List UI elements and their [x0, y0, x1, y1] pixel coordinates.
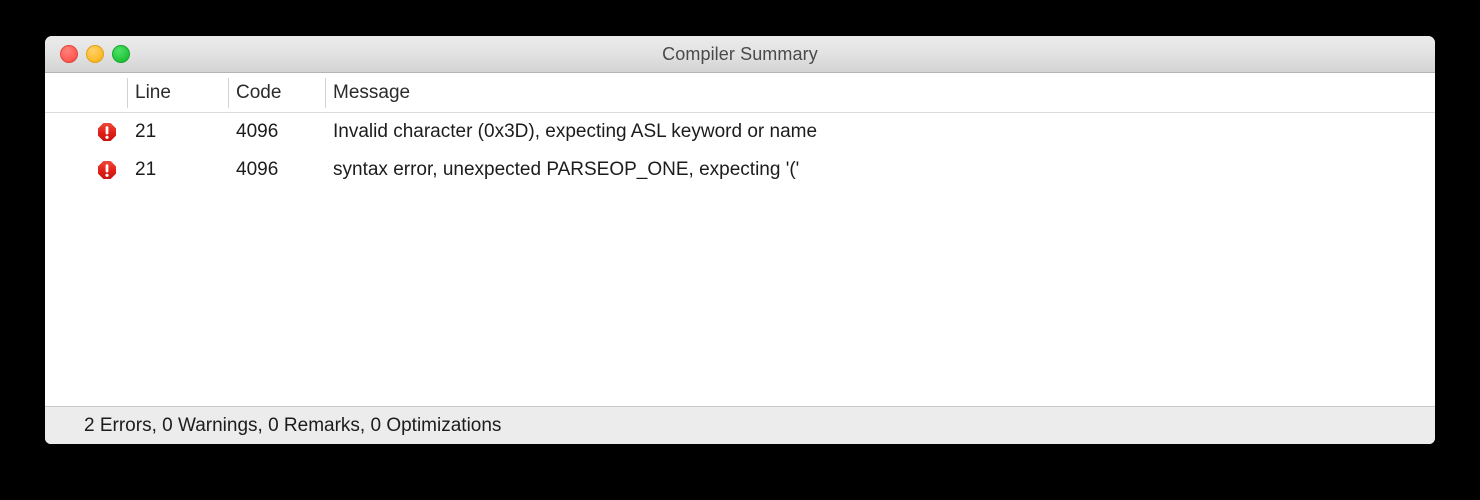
column-divider-3[interactable] — [325, 78, 326, 108]
diagnostics-list[interactable]: 21 4096 Invalid character (0x3D), expect… — [45, 113, 1435, 407]
cell-line: 21 — [135, 151, 156, 189]
error-icon — [96, 159, 118, 181]
column-divider-2[interactable] — [228, 78, 229, 108]
error-icon — [96, 121, 118, 143]
status-bar: 2 Errors, 0 Warnings, 0 Remarks, 0 Optim… — [45, 406, 1435, 444]
column-header-code[interactable]: Code — [236, 73, 281, 112]
cell-code: 4096 — [236, 113, 278, 151]
cell-code: 4096 — [236, 151, 278, 189]
cell-message: syntax error, unexpected PARSEOP_ONE, ex… — [333, 151, 799, 189]
column-divider-1[interactable] — [127, 78, 128, 108]
column-header-message[interactable]: Message — [333, 73, 410, 112]
table-header-row: Line Code Message — [45, 73, 1435, 113]
column-header-line[interactable]: Line — [135, 73, 171, 112]
window-title: Compiler Summary — [45, 36, 1435, 72]
table-row[interactable]: 21 4096 Invalid character (0x3D), expect… — [45, 113, 1435, 151]
cell-line: 21 — [135, 113, 156, 151]
table-row[interactable]: 21 4096 syntax error, unexpected PARSEOP… — [45, 151, 1435, 189]
compiler-summary-window: Compiler Summary Line Code Message — [45, 36, 1435, 444]
status-summary-text: 2 Errors, 0 Warnings, 0 Remarks, 0 Optim… — [84, 407, 501, 444]
window-titlebar[interactable]: Compiler Summary — [45, 36, 1435, 73]
cell-message: Invalid character (0x3D), expecting ASL … — [333, 113, 817, 151]
